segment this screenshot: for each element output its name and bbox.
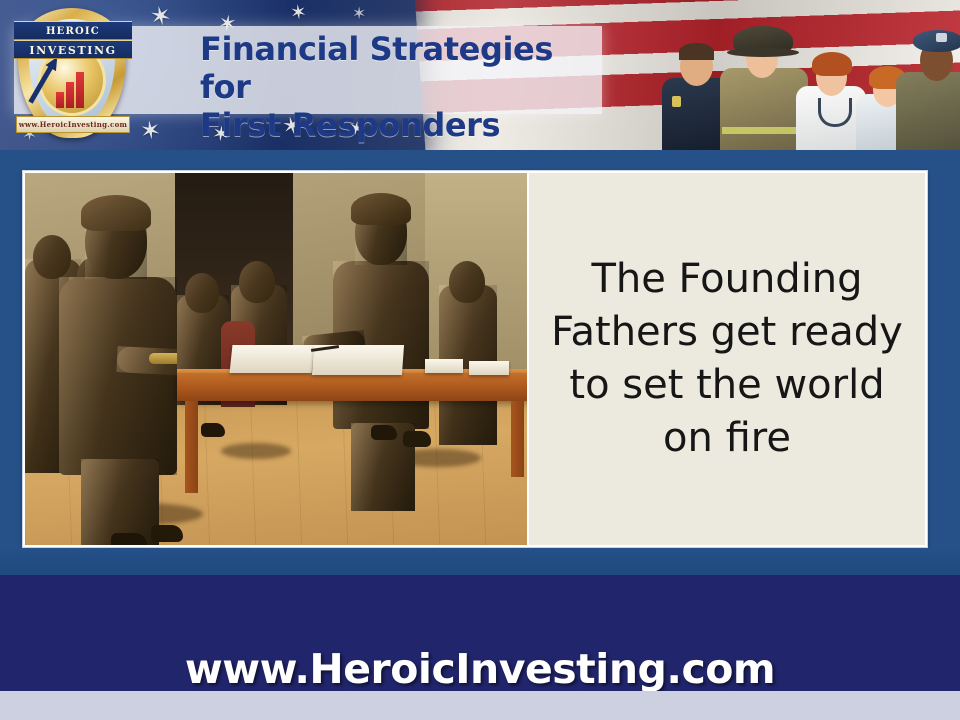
logo-bar-3	[76, 72, 84, 108]
flag-star-icon: ✶	[352, 6, 366, 23]
header-title-line-2: First Responders	[200, 106, 600, 144]
statue-foreground-hero-body	[59, 277, 177, 475]
caption-text: The Founding Fathers get ready to set th…	[529, 253, 925, 465]
statue-foreground-hero-hair	[81, 195, 151, 231]
open-document-left	[230, 345, 315, 373]
firefighter-helmet-brim	[727, 48, 799, 57]
logo-bar-2	[66, 82, 74, 108]
header-title-line-1: Financial Strategies for	[200, 30, 600, 106]
flag-star-icon: ✶	[138, 117, 162, 145]
caption-panel: The Founding Fathers get ready to set th…	[529, 173, 925, 545]
statue-right-background-head	[449, 261, 485, 303]
stethoscope-icon	[818, 98, 852, 127]
wooden-table	[177, 373, 527, 401]
statue-foot	[201, 423, 225, 437]
logo-bar-chart-icon	[56, 66, 92, 108]
founding-fathers-statues-photo	[25, 173, 527, 545]
logo-ribbon-url: www.HeroicInvesting.com	[16, 116, 130, 133]
logo-bar-1	[56, 92, 64, 108]
statue-washington-hair	[351, 193, 411, 225]
first-responders-collage	[620, 18, 960, 150]
paper-sheet	[425, 359, 463, 373]
header-title: Financial Strategies for First Responder…	[200, 30, 600, 144]
statue-foot	[403, 431, 431, 447]
footer-bottom-strip	[0, 691, 960, 720]
logo-band-heroic: HEROIC	[14, 21, 132, 40]
police-hair	[679, 43, 714, 60]
statue-foot	[151, 525, 183, 542]
statue-middle-1-head	[185, 273, 219, 313]
table-leg	[185, 401, 198, 493]
heroic-investing-logo[interactable]: HEROIC INVESTING www.HeroicInvesting.com	[12, 4, 136, 146]
police-badge-icon	[672, 96, 681, 107]
paper-sheet	[469, 361, 509, 375]
footer-accent-band	[0, 548, 960, 575]
soldier-insignia-icon	[936, 33, 947, 42]
footer-website-url[interactable]: www.HeroicInvesting.com	[0, 645, 960, 693]
statue-middle-2-head	[239, 261, 275, 303]
responder-soldier	[892, 26, 960, 150]
statue-background-left-head	[33, 235, 71, 279]
slide: ✶ ✶ ✶ ✶ ✶ ✶ ✶ ✶ ✶ ✶ Financial Strategies…	[0, 0, 960, 720]
statue-shadow	[221, 443, 291, 459]
header-banner: ✶ ✶ ✶ ✶ ✶ ✶ ✶ ✶ ✶ ✶ Financial Strategies…	[0, 0, 960, 150]
statue-foot	[111, 533, 147, 545]
statue-foot	[371, 425, 397, 440]
table-leg	[511, 401, 524, 477]
soldier-uniform	[896, 72, 960, 150]
logo-band-investing: INVESTING	[14, 40, 132, 59]
flag-star-icon: ✶	[289, 1, 308, 23]
doctor-hair	[812, 52, 852, 76]
